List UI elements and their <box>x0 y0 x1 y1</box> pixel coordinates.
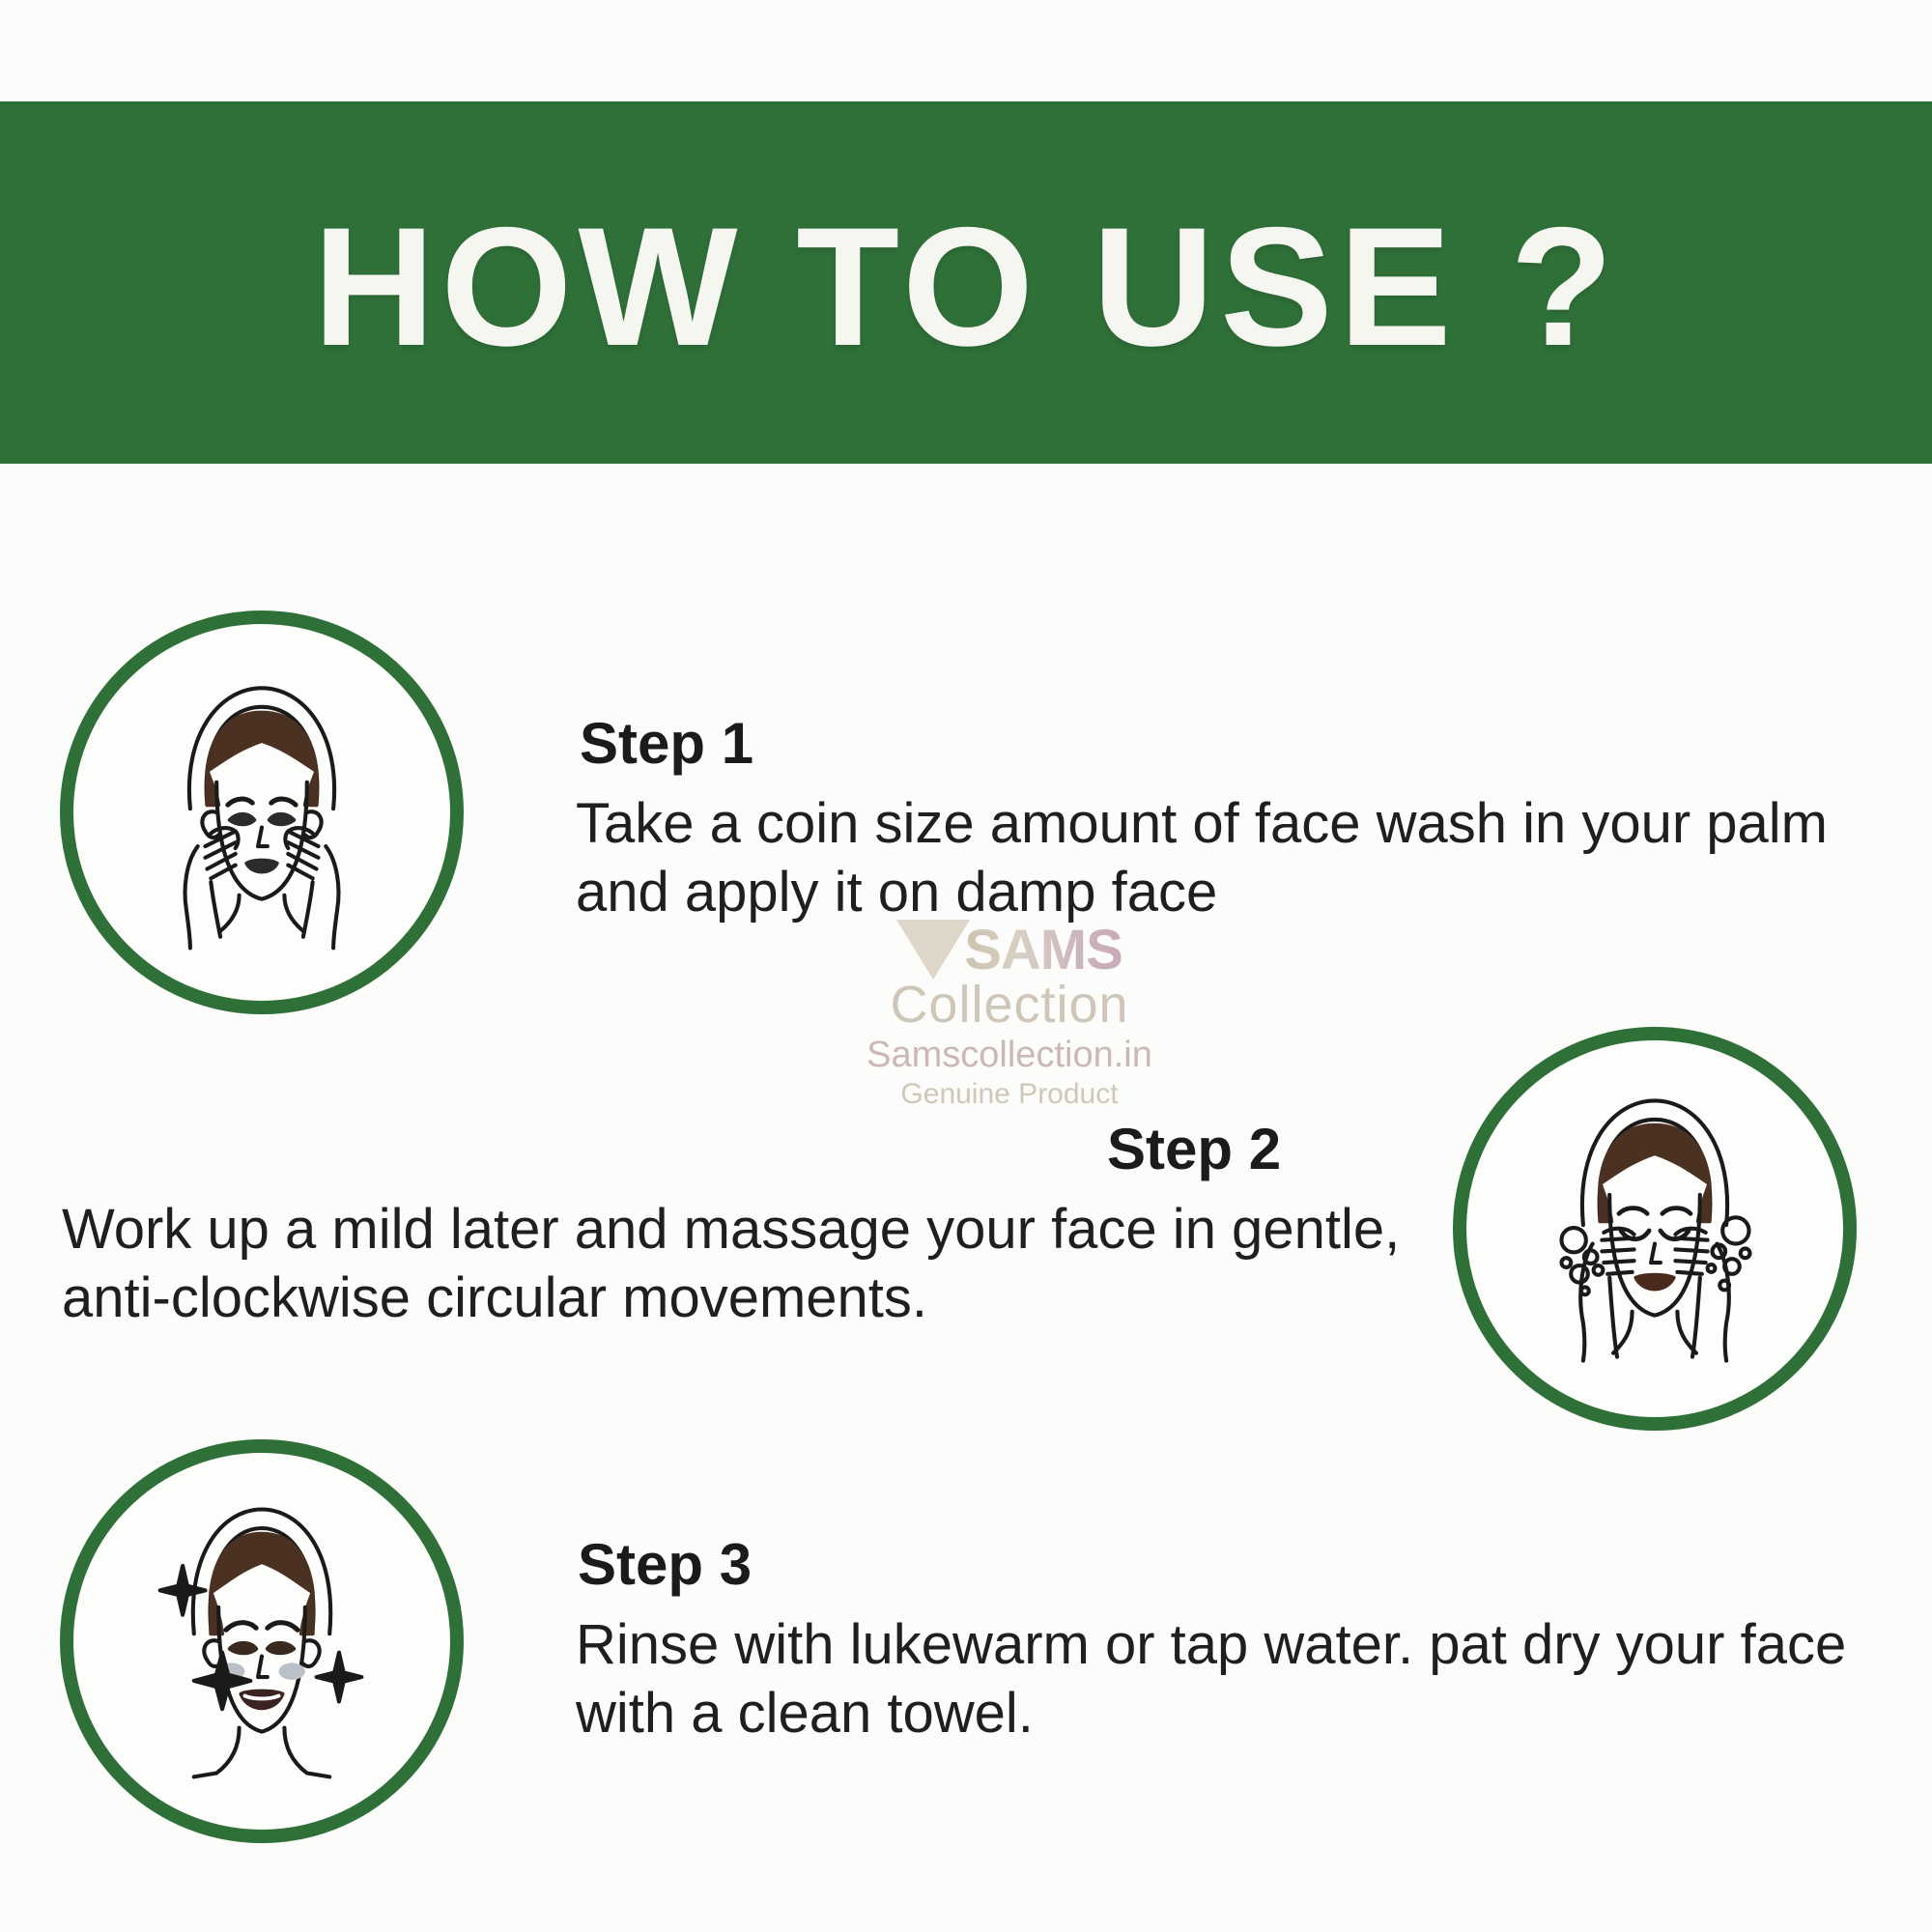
how-to-use-infographic: HOW TO USE ? <box>0 0 1932 1932</box>
downward-triangle-icon <box>896 920 970 980</box>
step-1-icon-circle <box>60 611 464 1014</box>
step-2-icon-circle <box>1453 1027 1857 1431</box>
watermark-tagline: Genuine Product <box>850 1078 1169 1111</box>
woman-applying-facewash-icon <box>73 624 450 1001</box>
step-3-icon-circle <box>60 1439 464 1843</box>
step-3-heading: Step 3 <box>578 1534 752 1595</box>
step-1-body: Take a coin size amount of face wash in … <box>576 790 1899 927</box>
brand-watermark: SAMS Collection Samscollection.in Genuin… <box>850 918 1169 1111</box>
page-title: HOW TO USE ? <box>313 203 1619 372</box>
woman-massaging-face-with-lather-icon <box>1466 1040 1843 1417</box>
step-3-body: Rinse with lukewarm or tap water. pat dr… <box>576 1611 1928 1748</box>
watermark-logo-row: SAMS <box>850 918 1169 982</box>
watermark-brand-sub: Collection <box>850 979 1169 1031</box>
woman-clean-glowing-face-icon <box>73 1453 450 1830</box>
step-2-body: Work up a mild later and massage your fa… <box>62 1196 1414 1333</box>
step-1-heading: Step 1 <box>580 713 753 774</box>
step-2-heading: Step 2 <box>1107 1119 1281 1179</box>
watermark-site: Samscollection.in <box>850 1035 1169 1076</box>
watermark-brand: SAMS <box>964 918 1122 982</box>
header-banner: HOW TO USE ? <box>0 101 1932 464</box>
